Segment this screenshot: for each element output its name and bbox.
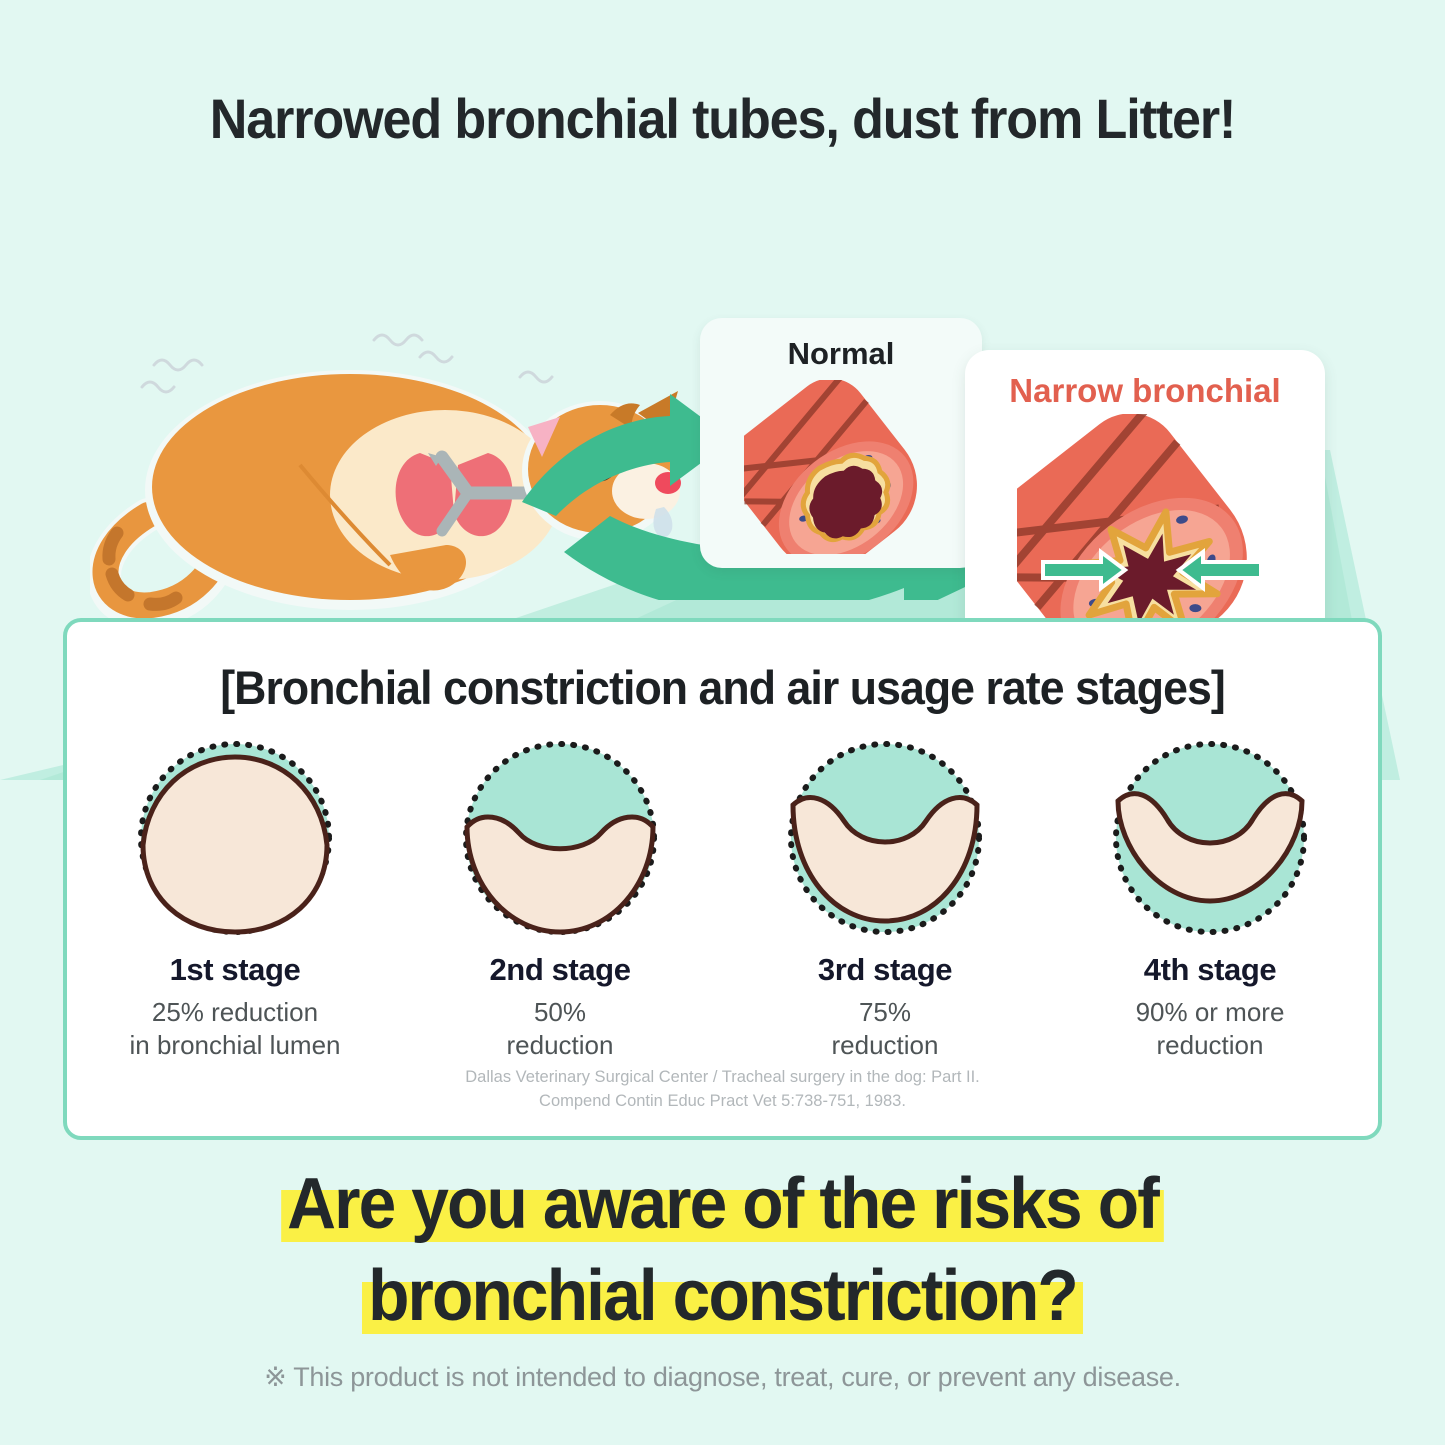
stage-figure-3 [735,734,1035,942]
cta-line-1-text: Are you aware of the risks of [281,1166,1163,1244]
disclaimer: ※ This product is not intended to diagno… [0,1362,1445,1393]
normal-bronchial-tube-icon [744,380,940,554]
hero-illustration: Normal [0,150,1445,620]
stage-desc-3: 75% reduction [735,996,1035,1063]
lumen-diagram-25 [132,735,338,941]
stage-name-2: 2nd stage [410,952,710,988]
stage-item-2: 2nd stage 50% reduction [410,734,710,1063]
cta-line-1: Are you aware of the risks of [43,1166,1401,1244]
stage-figure-2 [410,734,710,942]
stage-figure-4 [1060,734,1360,942]
cta-line-2-text: bronchial constriction? [362,1258,1082,1336]
stage-item-4: 4th stage 90% or more reduction [1060,734,1360,1063]
cta-block: Are you aware of the risks of bronchial … [0,1166,1445,1336]
stage-desc-2: 50% reduction [410,996,710,1063]
normal-bronchial-card: Normal [700,318,982,568]
lumen-diagram-50 [457,735,663,941]
infographic-root: Narrowed bronchial tubes, dust from Litt… [0,0,1445,1445]
stage-item-1: 1st stage 25% reduction in bronchial lum… [85,734,385,1063]
stage-panel: [Bronchial constriction and air usage ra… [63,618,1382,1140]
stage-figure-1 [85,734,385,942]
citation: Dallas Veterinary Surgical Center / Trac… [67,1065,1378,1115]
lumen-diagram-90 [1107,735,1313,941]
stage-item-3: 3rd stage 75% reduction [735,734,1035,1063]
narrow-card-title: Narrow bronchial [965,372,1325,410]
stage-name-1: 1st stage [85,952,385,988]
stage-desc-1: 25% reduction in bronchial lumen [85,996,385,1063]
page-title: Narrowed bronchial tubes, dust from Litt… [51,86,1395,151]
stage-desc-4: 90% or more reduction [1060,996,1360,1063]
stage-name-4: 4th stage [1060,952,1360,988]
stage-list: 1st stage 25% reduction in bronchial lum… [85,734,1360,1063]
panel-title: [Bronchial constriction and air usage ra… [100,660,1345,715]
cta-line-2: bronchial constriction? [43,1258,1401,1336]
normal-card-title: Normal [700,336,982,372]
lumen-diagram-75 [782,735,988,941]
stage-name-3: 3rd stage [735,952,1035,988]
